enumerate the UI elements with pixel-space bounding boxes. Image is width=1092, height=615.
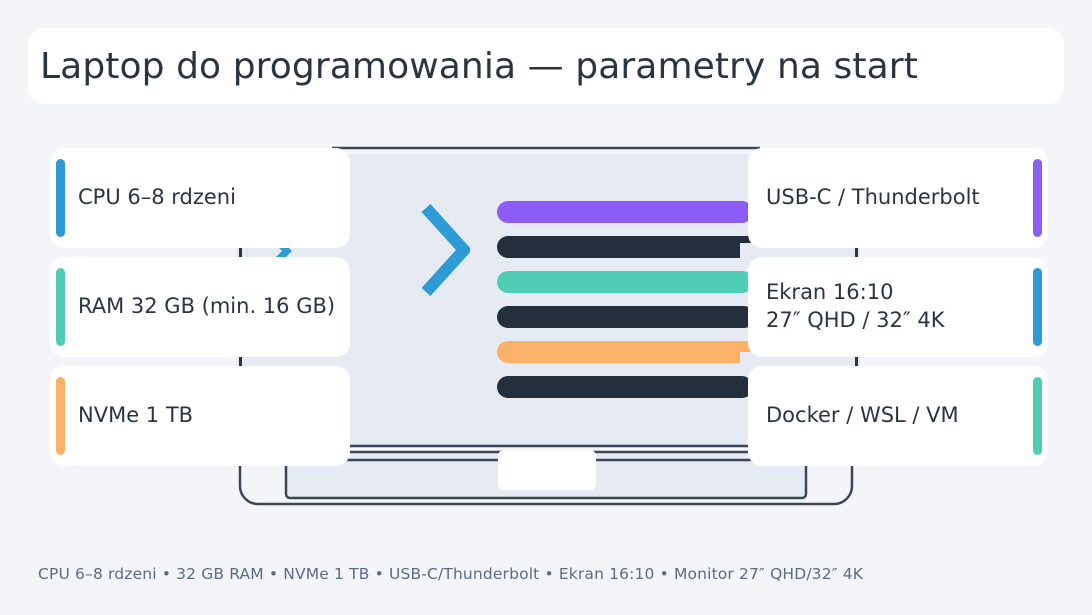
code-bar <box>497 376 753 398</box>
code-bar <box>497 306 755 328</box>
spec-card-ram[interactable]: RAM 32 GB (min. 16 GB) <box>50 257 350 357</box>
infographic-canvas: Laptop do programowania — parametry na s… <box>0 0 1092 615</box>
accent-bar <box>1033 268 1042 346</box>
spec-card-ports[interactable]: USB-C / Thunderbolt <box>748 148 1048 248</box>
code-bar <box>497 341 760 363</box>
code-bar <box>497 201 753 223</box>
chevron-right-icon <box>420 202 470 298</box>
footer-summary: CPU 6–8 rdzeni • 32 GB RAM • NVMe 1 TB •… <box>38 565 863 583</box>
accent-bar <box>1033 159 1042 237</box>
header-card: Laptop do programowania — parametry na s… <box>28 28 1064 104</box>
accent-bar <box>56 268 65 346</box>
spec-card-label: Docker / WSL / VM <box>766 402 959 430</box>
spec-card-label: USB-C / Thunderbolt <box>766 184 980 212</box>
spec-card-label: CPU 6–8 rdzeni <box>78 184 236 212</box>
spec-card-cpu[interactable]: CPU 6–8 rdzeni <box>50 148 350 248</box>
code-bar <box>497 271 753 293</box>
spec-card-virtualization[interactable]: Docker / WSL / VM <box>748 366 1048 466</box>
spec-card-storage[interactable]: NVMe 1 TB <box>50 366 350 466</box>
accent-bar <box>56 159 65 237</box>
spec-card-display[interactable]: Ekran 16:10 27″ QHD / 32″ 4K <box>748 257 1048 357</box>
code-bar <box>497 236 762 258</box>
accent-bar <box>56 377 65 455</box>
spec-card-label: Ekran 16:10 27″ QHD / 32″ 4K <box>766 279 945 334</box>
spec-card-label: NVMe 1 TB <box>78 402 193 430</box>
page-title: Laptop do programowania — parametry na s… <box>40 46 918 87</box>
spec-card-label: RAM 32 GB (min. 16 GB) <box>78 293 335 321</box>
accent-bar <box>1033 377 1042 455</box>
